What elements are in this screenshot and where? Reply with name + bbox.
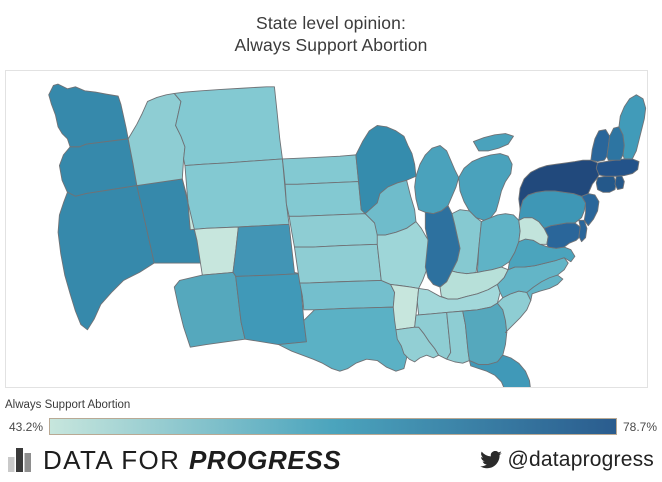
bar-chart-icon: [8, 448, 34, 472]
state-ID[interactable]: Idaho: 51%: [128, 93, 185, 185]
state-AZ[interactable]: Arizona: 60.4%: [174, 272, 245, 347]
state-MT[interactable]: Montana: 52%: [174, 87, 282, 166]
brand-bold: PROGRESS: [189, 445, 341, 475]
state-ND[interactable]: North Dakota: 51.5%: [282, 155, 358, 184]
legend-title: Always Support Abortion: [5, 398, 657, 412]
twitter-bird-icon[interactable]: [480, 451, 502, 469]
state-GA[interactable]: Georgia: 60%: [463, 303, 507, 364]
brand-text: DATA FOR PROGRESS: [43, 445, 341, 476]
social-handle-group[interactable]: @dataprogress: [480, 446, 655, 474]
state-SD[interactable]: South Dakota: 51.5%: [285, 182, 365, 217]
us-states-map: Washington: 66% Oregon: 65.5% California…: [6, 71, 647, 387]
state-RI[interactable]: Rhode Island: 73.5%: [615, 176, 624, 190]
social-handle-text: @dataprogress: [508, 448, 655, 472]
brand-regular: DATA FOR: [43, 445, 189, 475]
title-line-1: State level opinion:: [0, 12, 662, 34]
title-line-2: Always Support Abortion: [0, 34, 662, 56]
legend-gradient-bar: [49, 418, 617, 435]
legend-min-label: 43.2%: [5, 420, 49, 434]
state-WA[interactable]: Washington: 66%: [49, 84, 128, 147]
legend-max-label: 78.7%: [617, 420, 657, 434]
state-MA[interactable]: Massachusetts: 75%: [596, 159, 639, 176]
state-CO[interactable]: Colorado: 63.5%: [233, 224, 300, 276]
state-MI[interactable]: Michigan: 61%: [459, 134, 514, 221]
footer: DATA FOR PROGRESS @dataprogress: [0, 443, 662, 482]
state-AR[interactable]: Arkansas: 45%: [391, 284, 419, 329]
state-CA[interactable]: California: 66.8%: [58, 186, 154, 330]
state-WY[interactable]: Wyoming: 52%: [185, 159, 289, 230]
choropleth-map-panel: Washington: 66% Oregon: 65.5% California…: [5, 70, 648, 388]
brand-logo: DATA FOR PROGRESS: [8, 443, 341, 477]
state-DE[interactable]: Delaware: 70%: [579, 220, 587, 241]
state-OK[interactable]: Oklahoma: 56%: [300, 280, 395, 309]
state-NM[interactable]: New Mexico: 61.5%: [236, 274, 307, 345]
page-title: State level opinion: Always Support Abor…: [0, 12, 662, 56]
state-MD[interactable]: Maryland: 70.5%: [544, 223, 581, 248]
map-legend: Always Support Abortion 43.2% 78.7%: [5, 398, 657, 436]
state-NE[interactable]: Nebraska: 53%: [289, 214, 380, 247]
state-CT[interactable]: Connecticut: 73%: [596, 176, 616, 192]
state-WI[interactable]: Wisconsin: 61%: [415, 146, 459, 214]
states-layer: Washington: 66% Oregon: 65.5% California…: [49, 84, 646, 387]
legend-scale: 43.2% 78.7%: [5, 417, 657, 436]
state-KS[interactable]: Kansas: 54%: [294, 244, 381, 283]
